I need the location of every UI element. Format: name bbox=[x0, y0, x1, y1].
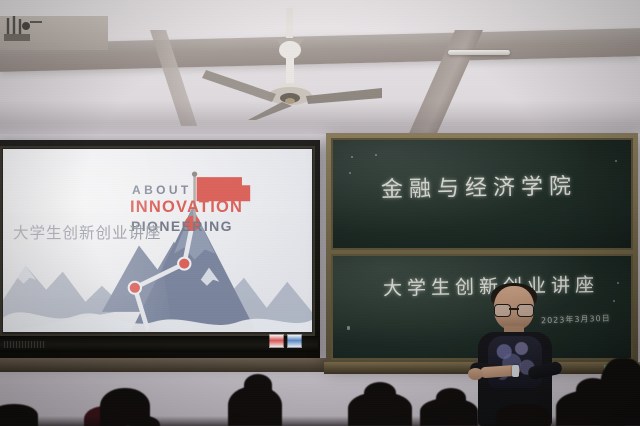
classroom-photo: ABOUT INNOVATION PIONEERING 大学生创新创业讲座 金融… bbox=[0, 0, 640, 426]
presenter-hand bbox=[468, 368, 483, 380]
slide-keyword-about: ABOUT bbox=[132, 183, 192, 197]
glasses-lens-left bbox=[494, 304, 511, 317]
glasses-icon bbox=[494, 304, 534, 315]
blackboard-panel-top[interactable]: 金融与经济学院 bbox=[331, 138, 633, 250]
chalk-dust bbox=[615, 160, 617, 162]
fluorescent-tube-right bbox=[448, 50, 510, 55]
chalk-dust bbox=[347, 326, 350, 330]
glasses-lens-right bbox=[517, 304, 534, 317]
chalk-dust bbox=[617, 282, 619, 284]
ceiling-soffit bbox=[0, 16, 108, 50]
sticker-red-icon bbox=[269, 334, 284, 348]
sticker-blue-icon bbox=[287, 334, 302, 348]
slide-screen[interactable]: ABOUT INNOVATION PIONEERING 大学生创新创业讲座 bbox=[3, 149, 312, 332]
chalk-dust bbox=[613, 300, 615, 302]
glasses-bridge bbox=[509, 308, 519, 310]
chalk-dust bbox=[349, 172, 351, 174]
chalk-dust bbox=[375, 154, 377, 156]
speaker-grille-icon bbox=[4, 341, 46, 348]
blackboard-text-department: 金融与经济学院 bbox=[381, 168, 578, 203]
chalk-dust bbox=[351, 156, 353, 158]
list-item bbox=[436, 388, 466, 408]
ceiling-fan-icon bbox=[196, 8, 386, 120]
presenter-shirt-pattern bbox=[488, 336, 542, 388]
smartboard-ledge bbox=[0, 358, 326, 372]
front-row-shadow bbox=[0, 416, 640, 426]
slide-keywords: ABOUT INNOVATION PIONEERING bbox=[126, 167, 312, 327]
projection-smartboard[interactable]: ABOUT INNOVATION PIONEERING 大学生创新创业讲座 bbox=[0, 140, 320, 360]
slide-keyword-innovation: INNOVATION bbox=[130, 198, 243, 217]
list-item bbox=[244, 374, 272, 396]
list-item bbox=[364, 382, 396, 404]
ceiling-pipes-icon bbox=[2, 16, 82, 50]
slide-title: 大学生创新创业讲座 bbox=[13, 221, 162, 243]
wrist-watch-icon bbox=[512, 365, 519, 377]
